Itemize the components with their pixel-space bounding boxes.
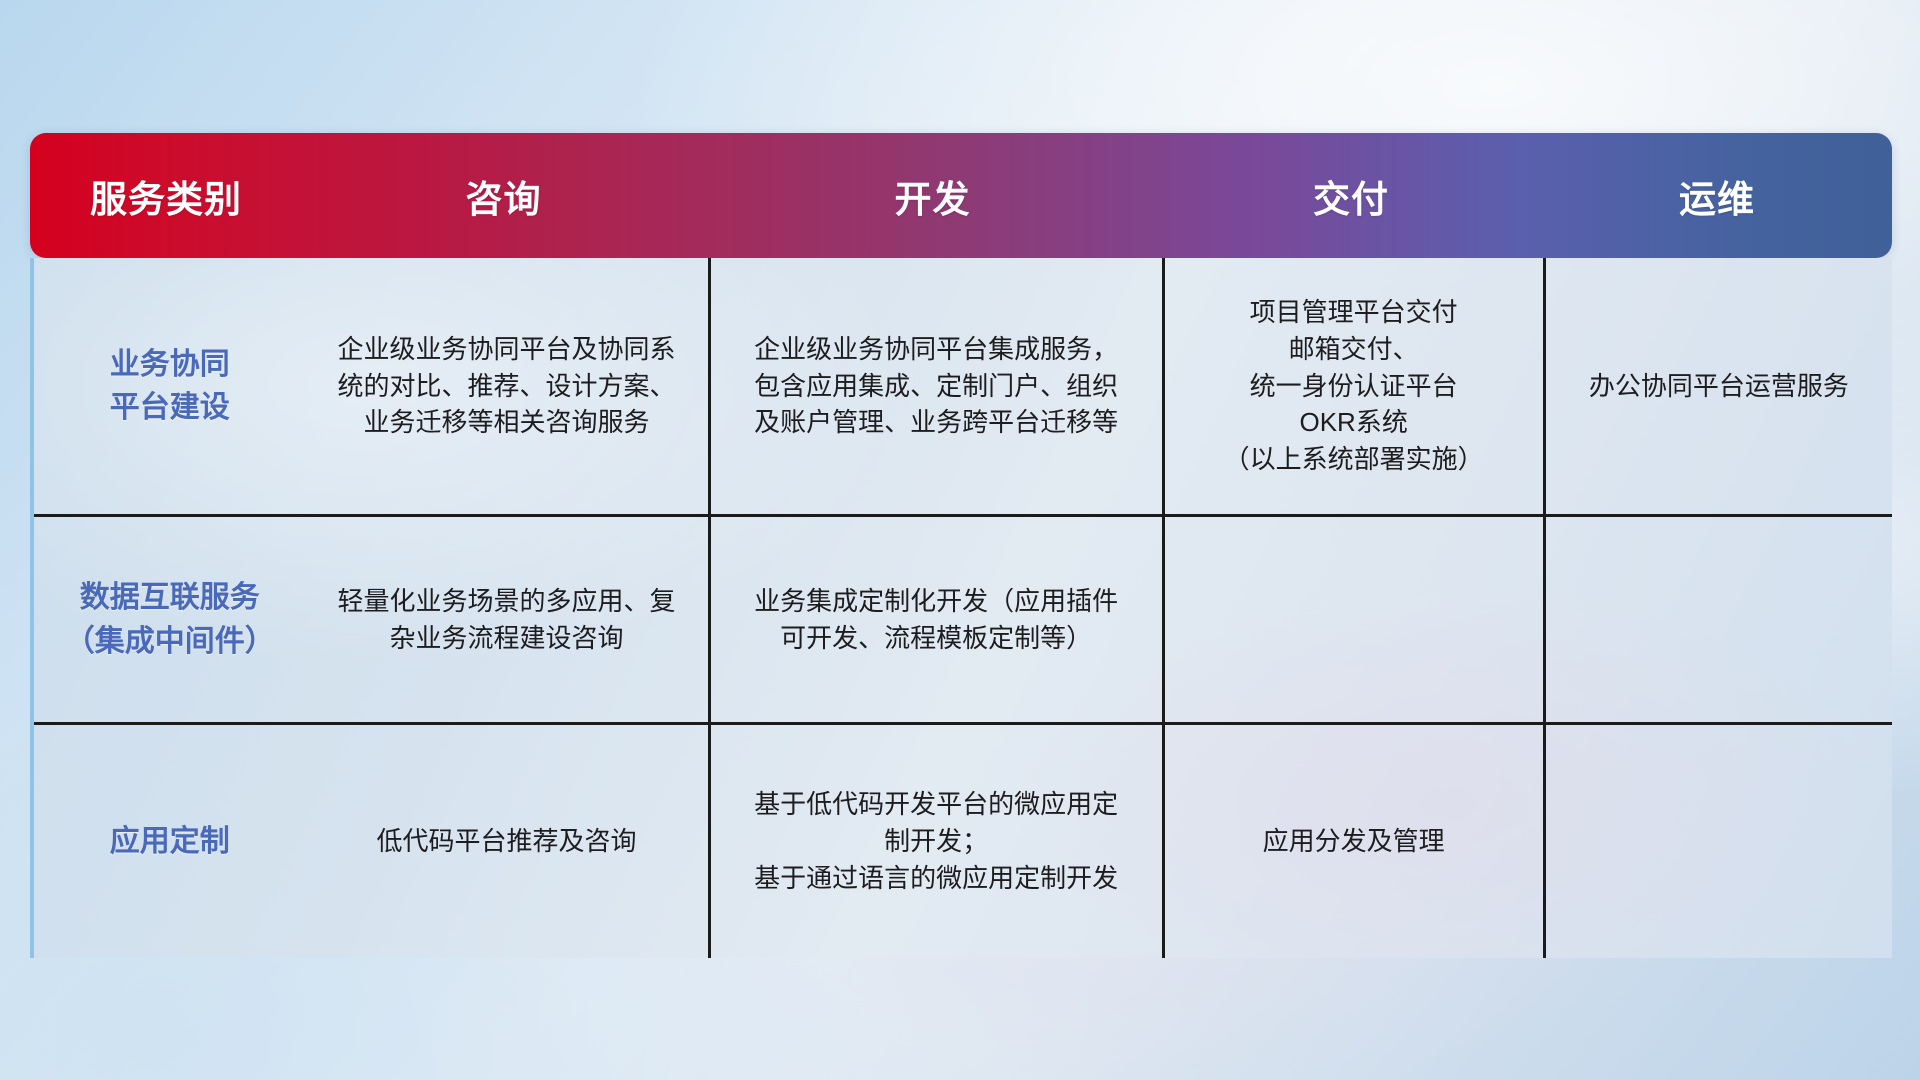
cell-consulting: 轻量化业务场景的多应用、复 杂业务流程建设咨询	[305, 517, 707, 722]
column-header-service-category: 服务类别	[30, 133, 302, 258]
cell-development: 基于低代码开发平台的微应用定 制开发； 基于通过语言的微应用定制开发	[708, 725, 1162, 958]
cell-delivery: 项目管理平台交付 邮箱交付、 统一身份认证平台 OKR系统 （以上系统部署实施）	[1162, 258, 1543, 514]
table-row: 业务协同 平台建设 企业级业务协同平台及协同系 统的对比、推荐、设计方案、 业务…	[34, 258, 1892, 514]
cell-operations	[1543, 517, 1892, 722]
table-row: 数据互联服务 （集成中间件） 轻量化业务场景的多应用、复 杂业务流程建设咨询 业…	[34, 514, 1892, 722]
cell-category: 应用定制	[34, 725, 305, 958]
cell-delivery: 应用分发及管理	[1162, 725, 1543, 958]
table-header-row: 服务类别 咨询 开发 交付 运维	[30, 133, 1892, 258]
table-body: 业务协同 平台建设 企业级业务协同平台及协同系 统的对比、推荐、设计方案、 业务…	[30, 258, 1892, 958]
cell-delivery	[1162, 517, 1543, 722]
cell-development: 业务集成定制化开发（应用插件 可开发、流程模板定制等）	[708, 517, 1162, 722]
service-matrix-table: 服务类别 咨询 开发 交付 运维 业务协同 平台建设 企业级业务协同平台及协同系…	[30, 133, 1892, 958]
cell-operations: 办公协同平台运营服务	[1543, 258, 1892, 514]
cell-consulting: 低代码平台推荐及咨询	[305, 725, 707, 958]
cell-development: 企业级业务协同平台集成服务， 包含应用集成、定制门户、组织 及账户管理、业务跨平…	[708, 258, 1162, 514]
cell-category: 业务协同 平台建设	[34, 258, 305, 514]
cell-operations	[1543, 725, 1892, 958]
column-header-operations: 运维	[1542, 133, 1892, 258]
cell-category: 数据互联服务 （集成中间件）	[34, 517, 305, 722]
column-header-consulting: 咨询	[302, 133, 705, 258]
column-header-development: 开发	[705, 133, 1160, 258]
table-row: 应用定制 低代码平台推荐及咨询 基于低代码开发平台的微应用定 制开发； 基于通过…	[34, 722, 1892, 958]
cell-consulting: 企业级业务协同平台及协同系 统的对比、推荐、设计方案、 业务迁移等相关咨询服务	[305, 258, 707, 514]
column-header-delivery: 交付	[1160, 133, 1542, 258]
